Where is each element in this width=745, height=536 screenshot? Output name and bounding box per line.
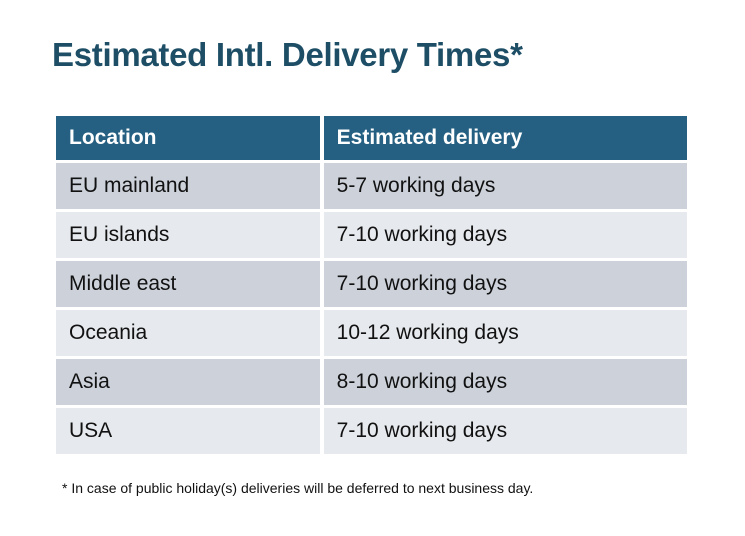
cell-delivery: 7-10 working days [324,212,687,258]
column-header-location: Location [56,116,320,160]
cell-location: EU mainland [56,163,320,209]
cell-location: EU islands [56,212,320,258]
table-header-row: Location Estimated delivery [56,116,687,160]
column-header-delivery: Estimated delivery [324,116,687,160]
table-row: Middle east 7-10 working days [56,261,687,307]
cell-delivery: 8-10 working days [324,359,687,405]
cell-location: USA [56,408,320,454]
footnote: * In case of public holiday(s) deliverie… [62,480,533,496]
table-body: EU mainland 5-7 working days EU islands … [56,163,687,454]
cell-delivery: 7-10 working days [324,261,687,307]
table-row: EU mainland 5-7 working days [56,163,687,209]
cell-delivery: 7-10 working days [324,408,687,454]
delivery-times-table: Location Estimated delivery EU mainland … [52,113,691,457]
table-row: USA 7-10 working days [56,408,687,454]
table-row: Oceania 10-12 working days [56,310,687,356]
cell-location: Asia [56,359,320,405]
cell-delivery: 5-7 working days [324,163,687,209]
cell-location: Middle east [56,261,320,307]
cell-delivery: 10-12 working days [324,310,687,356]
table-row: EU islands 7-10 working days [56,212,687,258]
table-row: Asia 8-10 working days [56,359,687,405]
table-header: Location Estimated delivery [56,116,687,160]
cell-location: Oceania [56,310,320,356]
delivery-times-document: Estimated Intl. Delivery Times* Location… [0,0,745,536]
page-title: Estimated Intl. Delivery Times* [52,36,523,74]
